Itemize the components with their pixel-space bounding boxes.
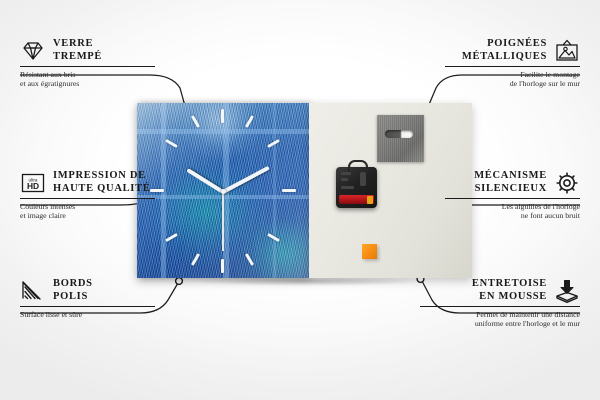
callout-title: VERRE TREMPÉ: [53, 38, 102, 63]
callout-subtitle: Facilite le montage de l'horloge sur le …: [445, 70, 580, 89]
gear-icon: [554, 171, 580, 195]
callout-rule: [20, 198, 155, 199]
callout-rule: [420, 306, 580, 307]
clock-front-face: [137, 103, 309, 278]
callout-bords-polis: BORDS POLIS Surface lisse et sûre: [20, 278, 155, 319]
polished-edges-icon: [20, 280, 46, 302]
callout-subtitle: Résistant aux bris et aux égratignures: [20, 70, 155, 89]
callout-verre-trempe: VERRE TREMPÉ Résistant aux bris et aux é…: [20, 38, 155, 89]
hanger-keyhole-slot: [385, 130, 413, 138]
orange-foam-spacer: [362, 244, 377, 259]
clock-center-pin: [221, 189, 226, 194]
metal-hanger-plate: [377, 115, 424, 162]
callout-rule: [20, 66, 155, 67]
mechanism-hanging-loop: [348, 160, 368, 172]
aa-battery: [339, 195, 374, 204]
callout-title: MÉCANISME SILENCIEUX: [474, 170, 547, 195]
second-hand: [222, 191, 224, 251]
callout-entretoise-en-mousse: ENTRETOISE EN MOUSSE Permet de maintenir…: [420, 278, 580, 329]
callout-rule: [445, 66, 580, 67]
product-image: [137, 103, 472, 278]
svg-text:HD: HD: [27, 181, 39, 191]
clock-mechanism: [336, 167, 377, 208]
callout-rule: [445, 198, 580, 199]
callout-title: ENTRETOISE EN MOUSSE: [472, 278, 547, 303]
ultra-hd-icon: ultra HD: [20, 172, 46, 194]
callout-impression: ultra HD IMPRESSION DE HAUTE QUALITÉ Cou…: [20, 170, 155, 221]
callout-subtitle: Les aiguilles de l'horloge ne font aucun…: [445, 202, 580, 221]
picture-hook-icon: [554, 39, 580, 63]
callout-title: IMPRESSION DE HAUTE QUALITÉ: [53, 170, 151, 195]
infographic-canvas: VERRE TREMPÉ Résistant aux bris et aux é…: [0, 0, 600, 400]
foam-spacer-icon: [554, 279, 580, 303]
callout-subtitle: Couleurs intenses et image claire: [20, 202, 155, 221]
callout-subtitle: Permet de maintenir une distance uniform…: [420, 310, 580, 329]
diamond-icon: [20, 40, 46, 62]
callout-mecanisme-silencieux: MÉCANISME SILENCIEUX Les aiguilles de l'…: [445, 170, 580, 221]
callout-title: POIGNÉES MÉTALLIQUES: [462, 38, 547, 63]
callout-poignees-metalliques: POIGNÉES MÉTALLIQUES Facilite le montage…: [445, 38, 580, 89]
callout-subtitle: Surface lisse et sûre: [20, 310, 155, 320]
callout-rule: [20, 306, 155, 307]
callout-title: BORDS POLIS: [53, 278, 93, 303]
